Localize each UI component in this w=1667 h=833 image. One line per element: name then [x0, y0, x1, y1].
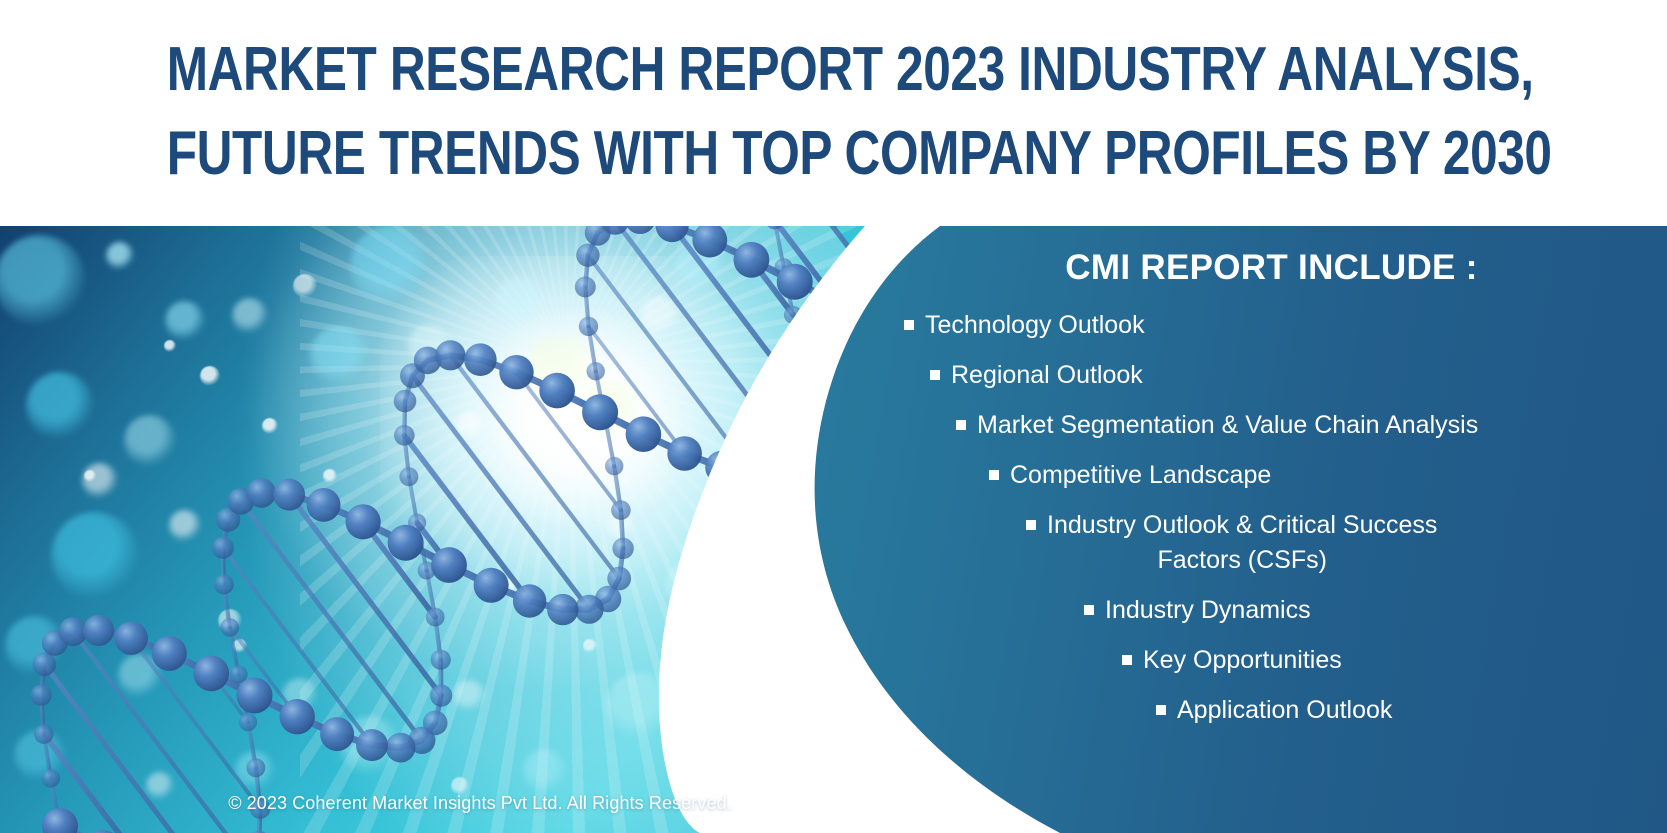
dna-sphere: [152, 636, 187, 671]
square-bullet-icon: [904, 320, 914, 330]
report-include-content: CMI REPORT INCLUDE : Technology OutlookR…: [826, 226, 1667, 833]
dna-sphere: [474, 568, 509, 603]
panel-heading: CMI REPORT INCLUDE :: [826, 248, 1667, 288]
dna-sphere: [738, 458, 769, 489]
dna-sphere: [587, 362, 605, 380]
dna-sphere: [399, 467, 418, 486]
marketing-banner: MARKET RESEARCH REPORT 2023 INDUSTRY ANA…: [0, 0, 1667, 833]
banner-stage: CMI REPORT INCLUDE : Technology OutlookR…: [0, 226, 1667, 833]
dna-sphere: [781, 444, 807, 470]
dna-sphere: [431, 650, 451, 670]
dna-sphere: [426, 608, 445, 627]
report-bullet-item: Market Segmentation & Value Chain Analys…: [826, 408, 1667, 443]
report-bullet-item: Regional Outlook: [826, 358, 1667, 393]
title-line-2: FUTURE TRENDS WITH TOP COMPANY PROFILES …: [167, 112, 1501, 196]
dna-rod: [450, 355, 619, 578]
report-bullet-label: Key Opportunities: [1143, 643, 1342, 678]
dna-sphere: [193, 656, 229, 692]
dna-rod: [801, 360, 805, 400]
dna-sphere: [34, 724, 54, 744]
dna-sphere: [388, 525, 424, 561]
dna-rod: [793, 315, 801, 360]
report-bullet-label: Industry Outlook & Critical SuccessFacto…: [1047, 508, 1437, 578]
dna-sphere: [625, 226, 656, 234]
dna-sphere: [784, 306, 802, 324]
dna-sphere: [611, 500, 631, 520]
dna-sphere: [435, 340, 465, 370]
dna-sphere: [320, 717, 354, 751]
dna-sphere: [582, 394, 618, 430]
dna-sphere: [115, 622, 148, 655]
report-bullet-label: Application Outlook: [1177, 693, 1392, 728]
report-bullet-label-line2: Factors (CSFs): [1047, 543, 1437, 578]
report-bullet-item: Key Opportunities: [826, 643, 1667, 678]
copyright-notice: © 2023 Coherent Market Insights Pvt Ltd.…: [0, 793, 960, 814]
report-bullet-item: Application Outlook: [826, 693, 1667, 728]
dna-sphere: [575, 595, 604, 624]
dna-sphere: [220, 618, 239, 637]
report-bullet-item: Competitive Landscape: [826, 458, 1667, 493]
dna-sphere: [605, 457, 623, 475]
dna-sphere: [791, 351, 810, 370]
dna-sphere: [667, 436, 702, 471]
dna-rod: [753, 470, 777, 473]
title-line-1: MARKET RESEARCH REPORT 2023 INDUSTRY ANA…: [167, 28, 1501, 112]
dna-sphere: [212, 537, 234, 559]
dna-sphere: [42, 769, 60, 787]
report-bullet-list: Technology OutlookRegional OutlookMarket…: [826, 308, 1667, 728]
dna-sphere: [576, 244, 599, 267]
square-bullet-icon: [930, 370, 940, 380]
square-bullet-icon: [1122, 655, 1132, 665]
dna-rod: [803, 400, 805, 433]
dna-sphere: [763, 456, 791, 484]
dna-sphere: [214, 574, 234, 594]
dna-sphere: [30, 685, 51, 706]
dna-sphere: [777, 264, 813, 300]
dna-sphere: [734, 242, 770, 278]
report-bullet-item: Technology Outlook: [826, 308, 1667, 343]
square-bullet-icon: [1156, 705, 1166, 715]
dna-sphere: [794, 390, 815, 411]
dna-sphere: [239, 713, 257, 731]
dna-sphere: [273, 479, 305, 511]
square-bullet-icon: [956, 420, 966, 430]
report-bullet-label: Industry Dynamics: [1105, 593, 1311, 628]
dna-sphere: [547, 594, 578, 625]
dna-sphere: [307, 488, 341, 522]
dna-sphere: [626, 416, 662, 452]
dna-sphere: [246, 758, 265, 777]
square-bullet-icon: [1026, 520, 1036, 530]
dna-sphere: [33, 653, 57, 677]
dna-sphere: [356, 729, 388, 761]
dna-sphere: [513, 584, 546, 617]
dna-sphere: [791, 422, 814, 445]
report-bullet-label: Technology Outlook: [925, 308, 1145, 343]
dna-sphere: [579, 317, 598, 336]
dna-sphere: [612, 538, 633, 559]
report-bullet-label: Competitive Landscape: [1010, 458, 1271, 493]
dna-sphere: [430, 685, 452, 707]
report-bullet-item: Industry Dynamics: [826, 593, 1667, 628]
dna-sphere: [394, 425, 415, 446]
square-bullet-icon: [989, 470, 999, 480]
bokeh-dot: [778, 624, 822, 668]
dna-sphere: [386, 733, 416, 763]
dna-sphere: [346, 504, 381, 539]
dna-rod: [777, 457, 794, 471]
square-bullet-icon: [1084, 605, 1094, 615]
report-bullet-item: Industry Outlook & Critical SuccessFacto…: [826, 508, 1667, 578]
dna-rod: [794, 433, 803, 457]
report-bullet-label: Market Segmentation & Value Chain Analys…: [977, 408, 1478, 443]
dna-sphere: [59, 617, 88, 646]
dna-sphere: [394, 390, 417, 413]
dna-sphere: [705, 451, 738, 484]
dna-sphere: [539, 373, 575, 409]
dna-rod: [722, 467, 753, 473]
dna-sphere: [499, 355, 533, 389]
page-title: MARKET RESEARCH REPORT 2023 INDUSTRY ANA…: [0, 28, 1667, 203]
report-bullet-label: Regional Outlook: [951, 358, 1143, 393]
dna-sphere: [83, 615, 114, 646]
dna-sphere: [464, 343, 497, 376]
bokeh-dot: [742, 438, 778, 474]
dna-rod: [588, 255, 753, 473]
dna-sphere: [247, 478, 276, 507]
bokeh-dot: [702, 748, 738, 784]
dna-sphere: [692, 226, 727, 258]
dna-sphere: [237, 678, 273, 714]
dna-sphere: [431, 547, 467, 583]
dna-sphere: [575, 276, 596, 297]
dna-sphere: [280, 699, 315, 734]
